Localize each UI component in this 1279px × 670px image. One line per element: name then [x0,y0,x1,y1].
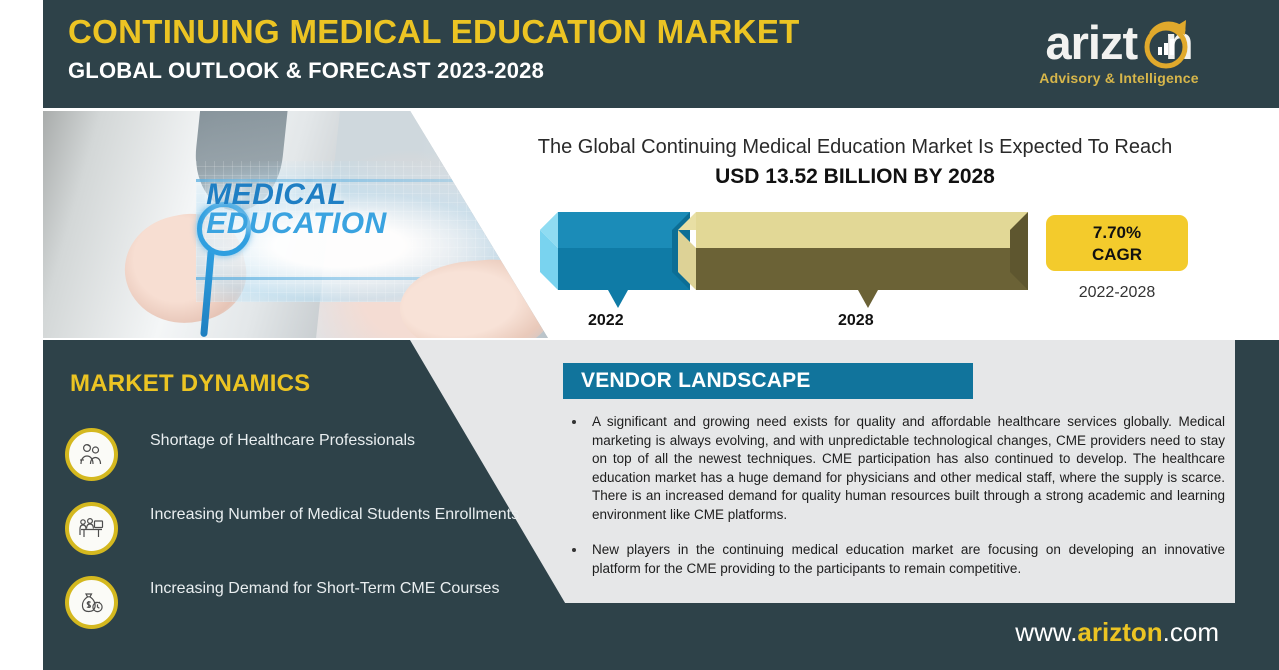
bar-label-2022: 2022 [588,312,624,330]
logo-word-before: arizt [1045,16,1137,69]
cagr-label: CAGR [1046,244,1188,266]
stat-value: USD 13.52 BILLION BY 2028 [475,165,1235,189]
market-dynamics-label-2: Increasing Number of Medical Students En… [150,504,530,525]
market-dynamics-title: MARKET DYNAMICS [70,370,310,398]
stat-headline: The Global Continuing Medical Education … [475,136,1235,159]
hero-overlay-line1: MEDICAL [206,181,387,210]
page-subtitle: GLOBAL OUTLOOK & FORECAST 2023-2028 [68,58,544,84]
url-suffix: .com [1163,617,1219,647]
vendor-bullet-2: New players in the continuing medical ed… [560,541,1225,578]
logo-growth-arrow-icon [1139,16,1193,70]
market-size-chart: 2022 2028 [530,200,1090,335]
arizton-logo: arizton Advisory & Intelligence [994,16,1244,94]
logo-tagline: Advisory & Intelligence [994,70,1244,86]
hero-overlay-text: MEDICAL EDUCATION [206,181,387,238]
bar-2022 [540,212,690,308]
money-bag-clock-icon [65,576,118,629]
header-bar: CONTINUING MEDICAL EDUCATION MARKET GLOB… [43,0,1279,108]
infographic-page: CONTINUING MEDICAL EDUCATION MARKET GLOB… [0,0,1279,670]
url-prefix: www. [1015,617,1077,647]
footer-website-url[interactable]: www.arizton.com [1015,617,1219,648]
bullet-dot-icon [572,420,576,424]
classroom-students-icon [65,502,118,555]
logo-wordmark: arizton [994,16,1244,70]
bullet-dot-icon [572,548,576,552]
vendor-bullet-1: A significant and growing need exists fo… [560,413,1225,524]
hero-overlay-line2: EDUCATION [206,210,387,239]
cagr-badge: 7.70% CAGR [1046,215,1188,271]
bar-2028 [678,212,1028,308]
market-dynamics-label-3: Increasing Demand for Short-Term CME Cou… [150,578,530,599]
cagr-period: 2022-2028 [1046,284,1188,302]
url-brand: arizton [1077,617,1162,647]
page-title: CONTINUING MEDICAL EDUCATION MARKET [68,13,800,51]
cagr-value: 7.70% [1046,222,1188,244]
healthcare-worker-shortage-icon [65,428,118,481]
vendor-bullet-text-1: A significant and growing need exists fo… [592,413,1225,524]
vendor-landscape-bullets: A significant and growing need exists fo… [560,413,1225,595]
bar-label-2028: 2028 [838,312,874,330]
vendor-landscape-title: VENDOR LANDSCAPE [563,363,973,399]
market-dynamics-label-1: Shortage of Healthcare Professionals [150,430,530,451]
vendor-bullet-text-2: New players in the continuing medical ed… [592,541,1225,578]
